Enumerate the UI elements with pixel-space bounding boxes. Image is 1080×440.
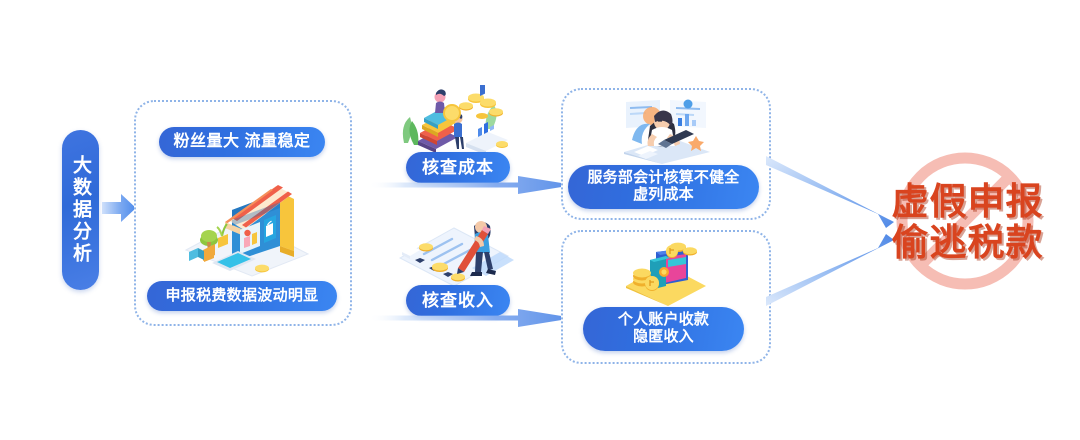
person-writing-document-icon [396, 212, 526, 290]
accounting-finding-label: 服务部会计核算不健全 虚列成本 [568, 165, 759, 209]
isometric-storefront-icon [176, 158, 318, 278]
gradient-right-arrow-icon-income [368, 307, 574, 329]
infographic-canvas: 大数据分析 粉丝量大 流量稳定 [0, 0, 1080, 440]
big-data-analysis-label: 大数据分析 [62, 130, 99, 290]
tax-fluctuation-label: 申报税费数据波动明显 [147, 281, 337, 311]
wallet-with-coins-icon [620, 238, 712, 306]
books-and-coins-icon [396, 85, 522, 157]
big-data-analysis-bar: 大数据分析 [62, 130, 99, 290]
fans-traffic-label: 粉丝量大 流量稳定 [159, 127, 325, 157]
woman-with-laptop-icon [614, 96, 718, 164]
gradient-right-arrow-icon-cost [368, 174, 574, 196]
tax-evasion-warning-text: 虚假申报 偷逃税款 [860, 148, 1075, 296]
tax-evasion-warning: 虚假申报 偷逃税款 [860, 148, 1075, 296]
personal-account-finding-label: 个人账户收款 隐匿收入 [583, 307, 744, 351]
right-block-arrow-icon [101, 192, 137, 224]
